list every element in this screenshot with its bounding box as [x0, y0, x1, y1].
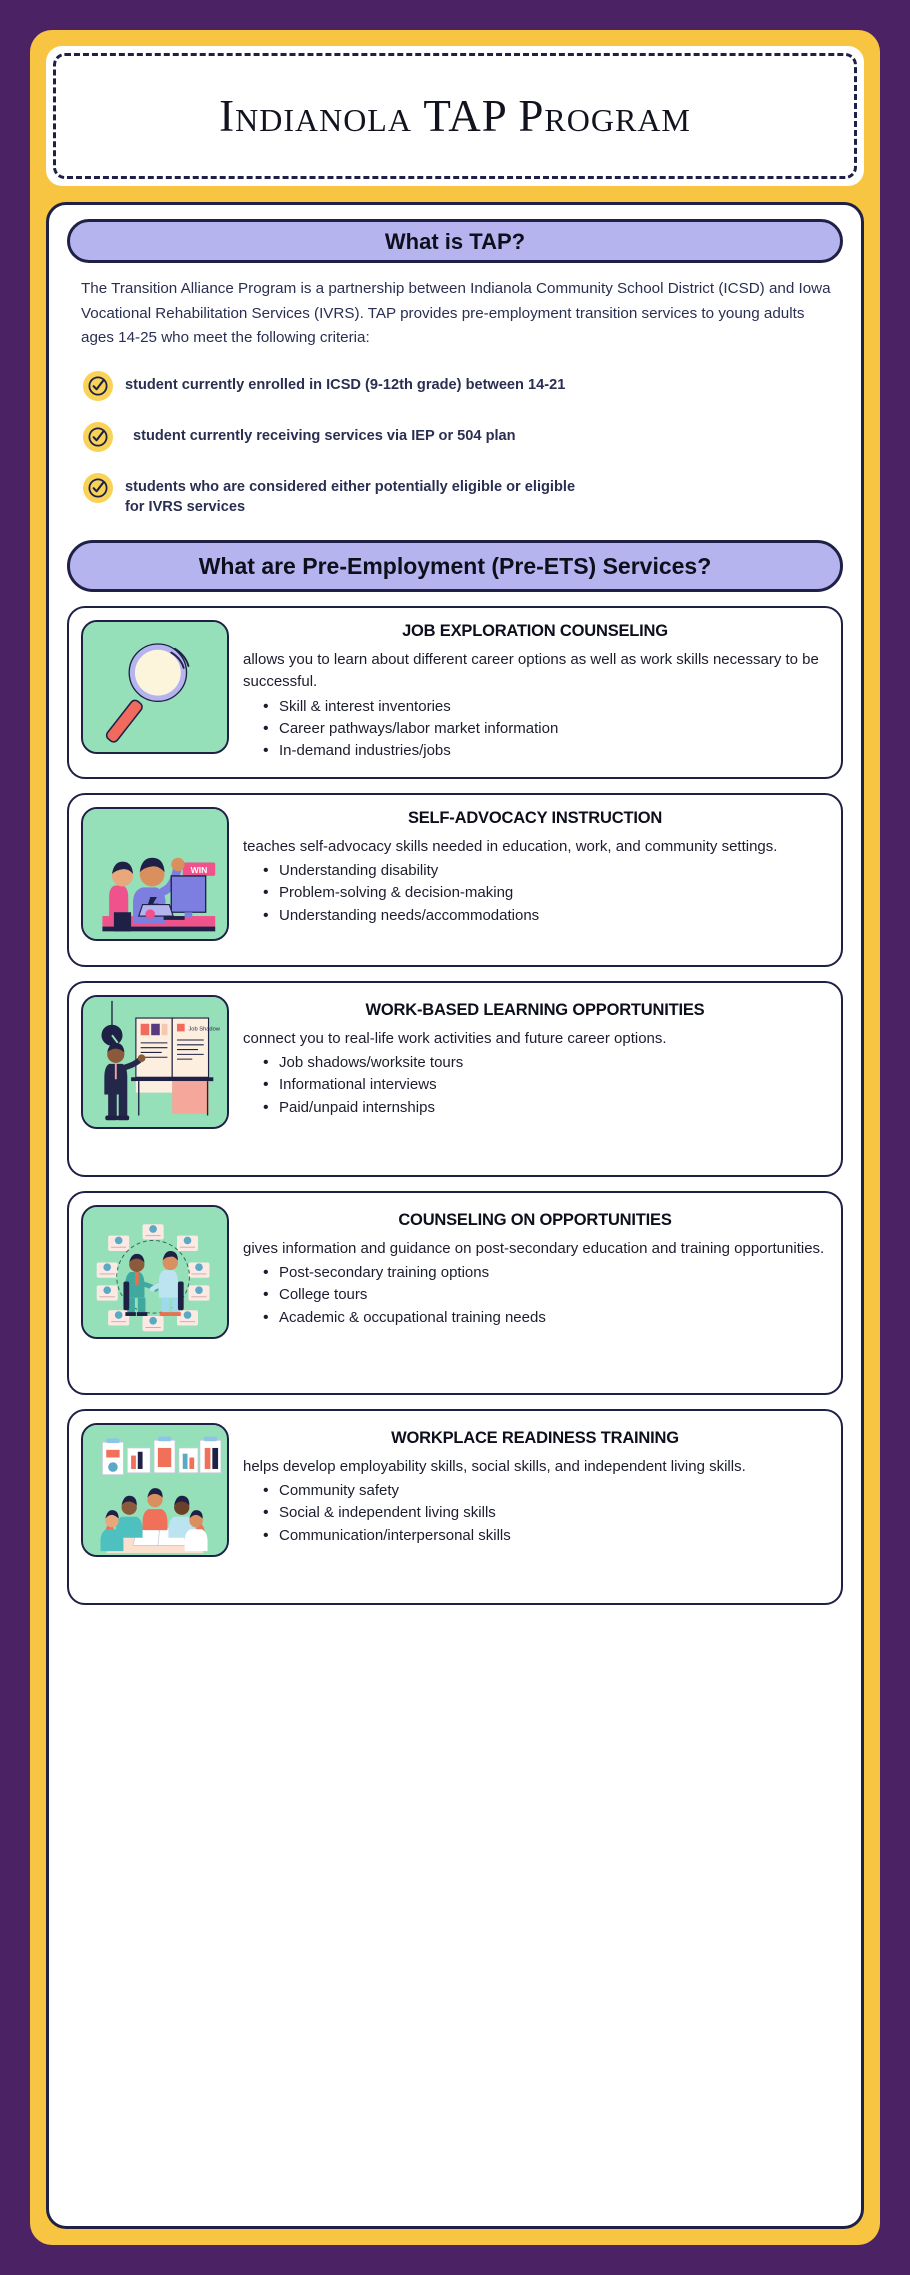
service-title: JOB EXPLORATION COUNSELING: [243, 622, 827, 641]
service-bullet-list: Community safety Social & independent li…: [243, 1480, 827, 1547]
service-card-work-based-learning: Job Shadow: [67, 981, 843, 1177]
service-description: gives information and guidance on post-s…: [243, 1238, 827, 1260]
criterion-item: students who are considered either poten…: [83, 473, 843, 518]
service-bullet-list: Skill & interest inventories Career path…: [243, 696, 827, 763]
service-title: COUNSELING ON OPPORTUNITIES: [243, 1211, 827, 1230]
service-title: WORK-BASED LEARNING OPPORTUNITIES: [243, 1001, 827, 1020]
service-bullet: Job shadows/worksite tours: [263, 1052, 827, 1074]
service-bullet: Social & independent living skills: [263, 1502, 827, 1524]
page-title: Indianola TAP Program: [219, 90, 691, 142]
check-circle-icon: [83, 473, 113, 503]
service-description: teaches self-advocacy skills needed in e…: [243, 836, 827, 858]
service-bullet: In-demand industries/jobs: [263, 740, 827, 762]
service-title: WORKPLACE READINESS TRAINING: [243, 1429, 827, 1448]
check-circle-icon: [83, 422, 113, 452]
svg-text:Job Shadow: Job Shadow: [188, 1026, 220, 1032]
service-card-body: JOB EXPLORATION COUNSELING allows you to…: [229, 620, 827, 762]
criterion-label: student currently receiving services via…: [125, 422, 516, 446]
service-card-workplace-readiness: WORKPLACE READINESS TRAINING helps devel…: [67, 1409, 843, 1605]
service-description: allows you to learn about different care…: [243, 649, 827, 693]
service-bullet: Skill & interest inventories: [263, 696, 827, 718]
content-panel: What is TAP? The Transition Alliance Pro…: [46, 202, 864, 2229]
service-bullet: Understanding disability: [263, 860, 827, 882]
service-card-job-exploration: JOB EXPLORATION COUNSELING allows you to…: [67, 606, 843, 778]
service-bullet: Problem-solving & decision-making: [263, 882, 827, 904]
team-workshop-table-icon: [81, 1423, 229, 1557]
criterion-label: students who are considered either poten…: [125, 473, 595, 518]
check-circle-icon: [83, 371, 113, 401]
service-card-body: WORK-BASED LEARNING OPPORTUNITIES connec…: [229, 995, 827, 1161]
service-bullet: Post-secondary training options: [263, 1262, 827, 1284]
title-dashed-border: Indianola TAP Program: [53, 53, 857, 179]
service-description: helps develop employability skills, soci…: [243, 1456, 827, 1478]
service-bullet-list: Job shadows/worksite tours Informational…: [243, 1052, 827, 1119]
criterion-label: student currently enrolled in ICSD (9-12…: [125, 371, 565, 395]
service-card-body: SELF-ADVOCACY INSTRUCTION teaches self-a…: [229, 807, 827, 951]
service-bullet: Community safety: [263, 1480, 827, 1502]
service-bullet: Understanding needs/accommodations: [263, 905, 827, 927]
service-title: SELF-ADVOCACY INSTRUCTION: [243, 809, 827, 828]
service-bullet: Academic & occupational training needs: [263, 1307, 827, 1329]
service-bullet-list: Post-secondary training options College …: [243, 1262, 827, 1329]
service-bullet: Career pathways/labor market information: [263, 718, 827, 740]
poster-frame: Indianola TAP Program What is TAP? The T…: [30, 30, 880, 2245]
service-card-self-advocacy: WIN: [67, 793, 843, 967]
service-bullet: Paid/unpaid internships: [263, 1097, 827, 1119]
criterion-item: student currently receiving services via…: [83, 422, 843, 452]
section-banner-what-is-tap: What is TAP?: [67, 219, 843, 263]
two-people-meeting-circle-icon: [81, 1205, 229, 1339]
service-bullet-list: Understanding disability Problem-solving…: [243, 860, 827, 927]
service-description: connect you to real-life work activities…: [243, 1028, 827, 1050]
service-bullet: Communication/interpersonal skills: [263, 1525, 827, 1547]
service-card-body: WORKPLACE READINESS TRAINING helps devel…: [229, 1423, 827, 1589]
section-banner-pre-ets: What are Pre-Employment (Pre-ETS) Servic…: [67, 540, 843, 593]
svg-text:WIN: WIN: [191, 865, 208, 875]
title-card: Indianola TAP Program: [46, 46, 864, 186]
service-bullet: College tours: [263, 1284, 827, 1306]
magnifying-glass-icon: [81, 620, 229, 754]
intro-paragraph: The Transition Alliance Program is a par…: [81, 277, 833, 351]
criteria-list: student currently enrolled in ICSD (9-12…: [83, 371, 843, 518]
two-people-at-computer-icon: WIN: [81, 807, 229, 941]
criterion-item: student currently enrolled in ICSD (9-12…: [83, 371, 843, 401]
service-bullet: Informational interviews: [263, 1074, 827, 1096]
service-card-counseling-opportunities: COUNSELING ON OPPORTUNITIES gives inform…: [67, 1191, 843, 1395]
service-card-body: COUNSELING ON OPPORTUNITIES gives inform…: [229, 1205, 827, 1379]
presenter-at-board-icon: Job Shadow: [81, 995, 229, 1129]
